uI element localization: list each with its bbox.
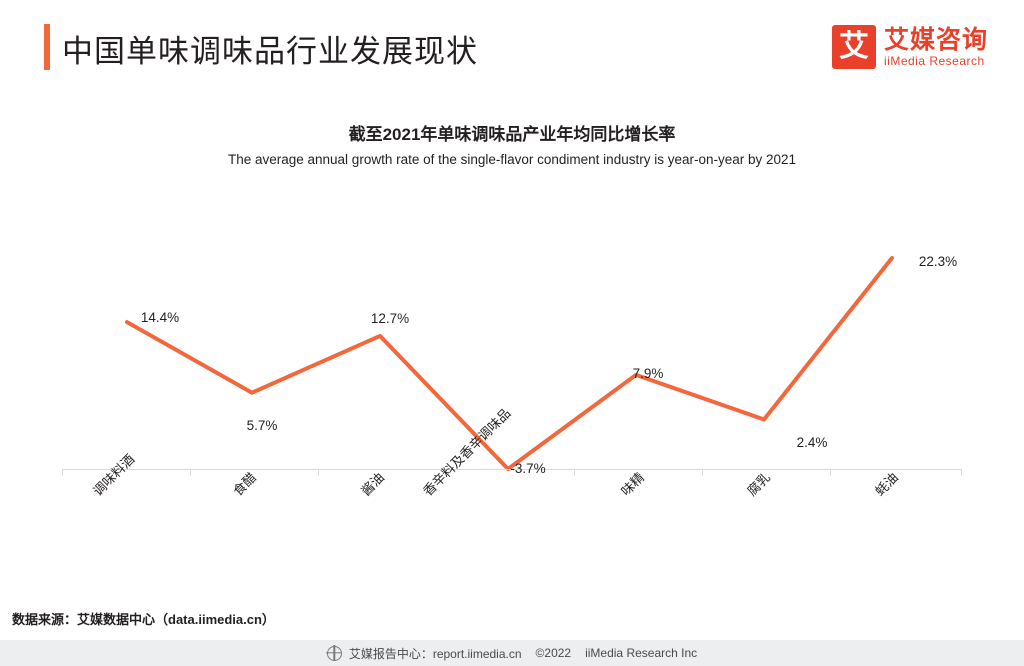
footer-content: 艾媒报告中心：report.iimedia.cn ©2022 iiMedia R… [327, 645, 697, 662]
chart-subtitle: The average annual growth rate of the si… [0, 152, 1024, 167]
data-source-note: 数据来源：艾媒数据中心（data.iimedia.cn） [12, 609, 275, 628]
chart-title: 截至2021年单味调味品产业年均同比增长率 [0, 120, 1024, 145]
page-title: 中国单味调味品行业发展现状 [62, 26, 478, 71]
axis-tick [574, 469, 575, 476]
axis-tick [318, 469, 319, 476]
logo-name-cn: 艾媒咨询 [884, 27, 988, 54]
footer-copyright: ©2022 [536, 646, 572, 660]
logo-mark-icon: 艾 [832, 25, 876, 69]
title-accent-bar [44, 24, 50, 70]
data-label: -3.7% [510, 461, 545, 476]
brand-logo: 艾 艾媒咨询 iiMedia Research [832, 22, 988, 72]
footer-company: iiMedia Research Inc [585, 646, 697, 660]
data-label: 14.4% [141, 310, 179, 325]
data-label: 7.9% [633, 366, 664, 381]
series-line-path [127, 258, 892, 469]
data-label: 2.4% [797, 435, 828, 450]
footer-report-center: 艾媒报告中心：report.iimedia.cn [349, 645, 522, 662]
axis-tick [961, 469, 962, 476]
data-label: 12.7% [371, 311, 409, 326]
line-chart-svg [62, 186, 962, 476]
axis-tick [190, 469, 191, 476]
chart-area: 14.4% 5.7% 12.7% -3.7% 7.9% 2.4% 22.3% 调… [0, 186, 1024, 586]
axis-tick [702, 469, 703, 476]
axis-tick [62, 469, 63, 476]
logo-name-en: iiMedia Research [884, 54, 988, 68]
globe-icon [327, 646, 342, 661]
data-label: 22.3% [919, 254, 957, 269]
infographic-page: 中国单味调味品行业发展现状 艾 艾媒咨询 iiMedia Research 截至… [0, 0, 1024, 666]
data-label: 5.7% [247, 418, 278, 433]
axis-tick [830, 469, 831, 476]
footer-bar: 艾媒报告中心：report.iimedia.cn ©2022 iiMedia R… [0, 640, 1024, 666]
logo-text: 艾媒咨询 iiMedia Research [884, 27, 988, 68]
header: 中国单味调味品行业发展现状 艾 艾媒咨询 iiMedia Research [0, 0, 1024, 92]
